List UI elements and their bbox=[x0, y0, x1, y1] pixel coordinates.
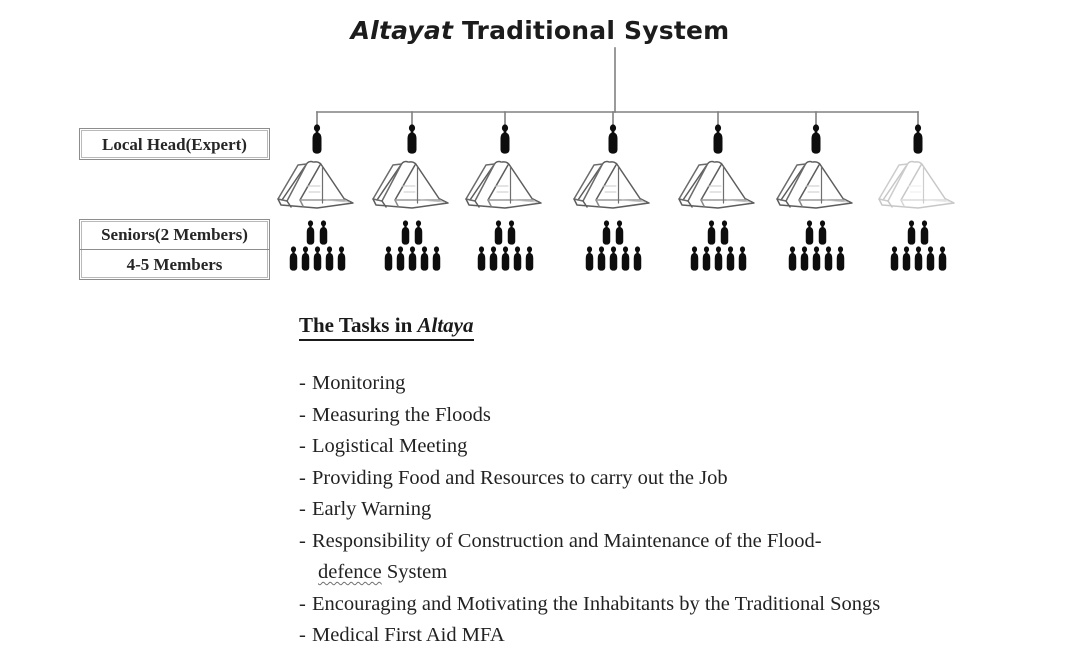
crew-6 bbox=[766, 220, 866, 271]
members-row-5 bbox=[668, 246, 768, 271]
members-row-6 bbox=[766, 246, 866, 271]
task-bullet-dash: - bbox=[299, 368, 312, 400]
tent-icon bbox=[455, 156, 555, 214]
tent-icon-faded bbox=[868, 156, 968, 214]
task-item-6-continuation: defence System bbox=[299, 557, 1059, 589]
task-continuation-suffix: System bbox=[382, 561, 448, 583]
row-label-local-head-text: Local Head(Expert) bbox=[102, 136, 247, 153]
person-icon bbox=[500, 246, 511, 271]
members-row-4 bbox=[563, 246, 663, 271]
task-item-8: -Medical First Aid MFA bbox=[299, 620, 1059, 652]
task-text: Logistical Meeting bbox=[312, 435, 467, 457]
unit-column-1[interactable] bbox=[267, 124, 367, 271]
task-text: Providing Food and Resources to carry ou… bbox=[312, 467, 728, 489]
tasks-heading: The Tasks in Altaya bbox=[299, 313, 474, 341]
person-icon bbox=[431, 246, 442, 271]
members-row-3 bbox=[455, 246, 555, 271]
tent-6 bbox=[766, 156, 866, 214]
task-text: Early Warning bbox=[312, 498, 431, 520]
crew-3 bbox=[455, 220, 555, 271]
person-icon bbox=[395, 246, 406, 271]
tent-7 bbox=[868, 156, 968, 214]
seniors-row-6 bbox=[766, 220, 866, 245]
row-label-seniors: Seniors(2 Members) bbox=[80, 220, 269, 249]
row-label-members-text: 4-5 Members bbox=[127, 255, 223, 275]
person-icon bbox=[336, 246, 347, 271]
tasks-heading-prefix: The Tasks in bbox=[299, 313, 418, 337]
person-icon bbox=[606, 124, 620, 154]
person-icon bbox=[906, 220, 917, 245]
seniors-row-3 bbox=[455, 220, 555, 245]
tent-2 bbox=[362, 156, 462, 214]
person-icon bbox=[919, 220, 930, 245]
unit-column-7[interactable] bbox=[868, 124, 968, 271]
crew-4 bbox=[563, 220, 663, 271]
crew-1 bbox=[267, 220, 367, 271]
task-text: Measuring the Floods bbox=[312, 404, 491, 426]
spellcheck-flagged-word: defence bbox=[318, 561, 382, 583]
person-icon bbox=[324, 246, 335, 271]
task-bullet-dash: - bbox=[299, 526, 312, 558]
person-icon bbox=[512, 246, 523, 271]
task-bullet-dash: - bbox=[299, 494, 312, 526]
unit-column-6[interactable] bbox=[766, 124, 866, 271]
person-icon bbox=[305, 220, 316, 245]
tent-icon bbox=[766, 156, 866, 214]
person-icon bbox=[725, 246, 736, 271]
person-icon bbox=[608, 246, 619, 271]
local-head-2 bbox=[405, 124, 419, 154]
person-icon bbox=[937, 246, 948, 271]
row-label-seniors-text: Seniors(2 Members) bbox=[101, 225, 248, 245]
task-item-4: -Providing Food and Resources to carry o… bbox=[299, 463, 1059, 495]
person-icon bbox=[584, 246, 595, 271]
person-icon bbox=[811, 246, 822, 271]
page-title-rest: Traditional System bbox=[453, 16, 729, 45]
tasks-heading-emphasis: Altaya bbox=[418, 313, 474, 337]
person-icon bbox=[476, 246, 487, 271]
person-icon bbox=[804, 220, 815, 245]
task-bullet-dash: - bbox=[299, 431, 312, 463]
person-icon bbox=[817, 220, 828, 245]
task-item-2: -Measuring the Floods bbox=[299, 400, 1059, 432]
unit-column-5[interactable] bbox=[668, 124, 768, 271]
person-icon bbox=[413, 220, 424, 245]
task-item-6: -Responsibility of Construction and Main… bbox=[299, 526, 1059, 558]
task-bullet-dash: - bbox=[299, 463, 312, 495]
members-row-2 bbox=[362, 246, 462, 271]
person-icon bbox=[288, 246, 299, 271]
tent-icon bbox=[362, 156, 462, 214]
person-icon bbox=[787, 246, 798, 271]
members-row-1 bbox=[267, 246, 367, 271]
person-icon bbox=[835, 246, 846, 271]
person-icon bbox=[713, 246, 724, 271]
person-icon bbox=[737, 246, 748, 271]
task-item-1: -Monitoring bbox=[299, 368, 1059, 400]
seniors-row-4 bbox=[563, 220, 663, 245]
person-icon bbox=[711, 124, 725, 154]
person-icon bbox=[524, 246, 535, 271]
page-title-emphasis: Altayat bbox=[351, 16, 454, 45]
task-bullet-dash: - bbox=[299, 400, 312, 432]
person-icon bbox=[823, 246, 834, 271]
tent-3 bbox=[455, 156, 555, 214]
person-icon bbox=[689, 246, 700, 271]
person-icon bbox=[901, 246, 912, 271]
person-icon bbox=[701, 246, 712, 271]
person-icon bbox=[632, 246, 643, 271]
task-bullet-dash: - bbox=[299, 589, 312, 621]
unit-column-2[interactable] bbox=[362, 124, 462, 271]
person-icon bbox=[809, 124, 823, 154]
person-icon bbox=[405, 124, 419, 154]
person-icon bbox=[310, 124, 324, 154]
seniors-row-7 bbox=[868, 220, 968, 245]
person-icon bbox=[300, 246, 311, 271]
crew-2 bbox=[362, 220, 462, 271]
person-icon bbox=[498, 124, 512, 154]
person-icon bbox=[506, 220, 517, 245]
row-label-members: 4-5 Members bbox=[80, 249, 269, 279]
person-icon bbox=[312, 246, 323, 271]
person-icon bbox=[620, 246, 631, 271]
task-item-7: -Encouraging and Motivating the Inhabita… bbox=[299, 589, 1059, 621]
person-icon bbox=[799, 246, 810, 271]
seniors-row-1 bbox=[267, 220, 367, 245]
tent-4 bbox=[563, 156, 663, 214]
person-icon bbox=[925, 246, 936, 271]
unit-column-4[interactable] bbox=[563, 124, 663, 271]
person-icon bbox=[400, 220, 411, 245]
tent-5 bbox=[668, 156, 768, 214]
person-icon bbox=[488, 246, 499, 271]
unit-column-3[interactable] bbox=[455, 124, 555, 271]
members-row-7 bbox=[868, 246, 968, 271]
person-icon bbox=[889, 246, 900, 271]
local-head-7 bbox=[911, 124, 925, 154]
tent-1 bbox=[267, 156, 367, 214]
tent-icon bbox=[668, 156, 768, 214]
task-item-5: -Early Warning bbox=[299, 494, 1059, 526]
seniors-row-2 bbox=[362, 220, 462, 245]
task-text: Monitoring bbox=[312, 372, 405, 394]
person-icon bbox=[596, 246, 607, 271]
tasks-list: -Monitoring-Measuring the Floods-Logisti… bbox=[299, 368, 1059, 652]
task-text: Encouraging and Motivating the Inhabitan… bbox=[312, 593, 880, 615]
person-icon bbox=[601, 220, 612, 245]
local-head-5 bbox=[711, 124, 725, 154]
person-icon bbox=[614, 220, 625, 245]
row-label-local-head: Local Head(Expert) bbox=[79, 128, 270, 160]
person-icon bbox=[719, 220, 730, 245]
person-icon bbox=[383, 246, 394, 271]
seniors-row-5 bbox=[668, 220, 768, 245]
task-text: Medical First Aid MFA bbox=[312, 624, 505, 646]
page-title: Altayat Traditional System bbox=[0, 16, 1080, 45]
task-item-3: -Logistical Meeting bbox=[299, 431, 1059, 463]
local-head-1 bbox=[310, 124, 324, 154]
crew-7 bbox=[868, 220, 968, 271]
crew-5 bbox=[668, 220, 768, 271]
person-icon bbox=[911, 124, 925, 154]
local-head-3 bbox=[498, 124, 512, 154]
local-head-4 bbox=[606, 124, 620, 154]
task-bullet-dash: - bbox=[299, 620, 312, 652]
tent-icon bbox=[563, 156, 663, 214]
task-text: Responsibility of Construction and Maint… bbox=[312, 530, 822, 552]
person-icon bbox=[407, 246, 418, 271]
row-label-group-stack: Seniors(2 Members) 4-5 Members bbox=[79, 219, 270, 280]
person-icon bbox=[419, 246, 430, 271]
person-icon bbox=[913, 246, 924, 271]
person-icon bbox=[493, 220, 504, 245]
person-icon bbox=[706, 220, 717, 245]
local-head-6 bbox=[809, 124, 823, 154]
person-icon bbox=[318, 220, 329, 245]
tent-icon bbox=[267, 156, 367, 214]
